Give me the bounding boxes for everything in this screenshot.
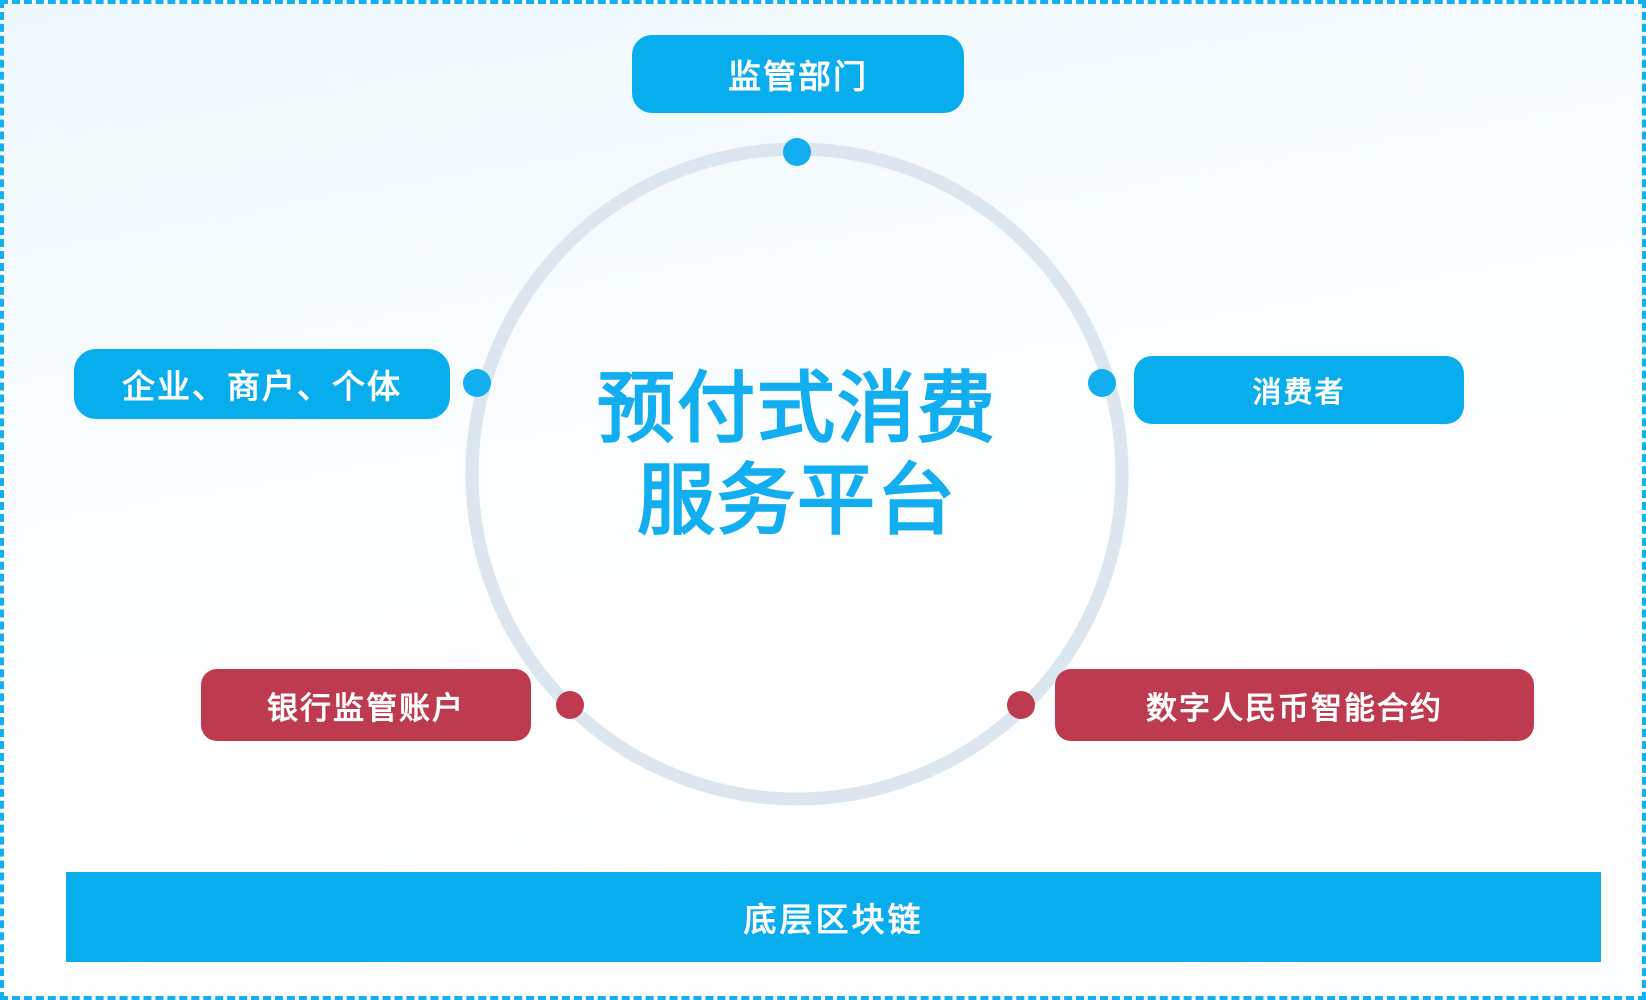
platform-title-line-1: 预付式消费	[517, 362, 1077, 454]
foundation-bar-label: 底层区块链	[744, 893, 924, 941]
node-dot-consumers	[1088, 369, 1116, 397]
node-label-bank-account: 银行监管账户	[267, 683, 465, 728]
node-badge-bank-account[interactable]: 银行监管账户	[201, 669, 531, 741]
node-label-regulator: 监管部门	[728, 50, 868, 98]
platform-center-title: 预付式消费 服务平台	[517, 362, 1077, 546]
node-label-consumers: 消费者	[1252, 369, 1345, 411]
node-badge-smart-contract[interactable]: 数字人民币智能合约	[1055, 669, 1534, 741]
foundation-bar-blockchain[interactable]: 底层区块链	[66, 872, 1601, 962]
node-badge-regulator[interactable]: 监管部门	[632, 35, 964, 113]
node-label-enterprises: 企业、商户、个体	[122, 360, 402, 408]
node-dot-regulator	[783, 138, 811, 166]
node-dot-smart-contract	[1007, 691, 1035, 719]
node-dot-bank-account	[556, 691, 584, 719]
node-label-smart-contract: 数字人民币智能合约	[1146, 683, 1443, 728]
platform-title-line-2: 服务平台	[517, 454, 1077, 546]
node-badge-enterprises[interactable]: 企业、商户、个体	[74, 349, 450, 419]
prepaid-consumption-platform-diagram: 预付式消费 服务平台 监管部门 企业、商户、个体 消费者 银行监管账户 数字人民…	[0, 0, 1646, 1000]
node-dot-enterprises	[463, 369, 491, 397]
node-badge-consumers[interactable]: 消费者	[1134, 356, 1464, 424]
